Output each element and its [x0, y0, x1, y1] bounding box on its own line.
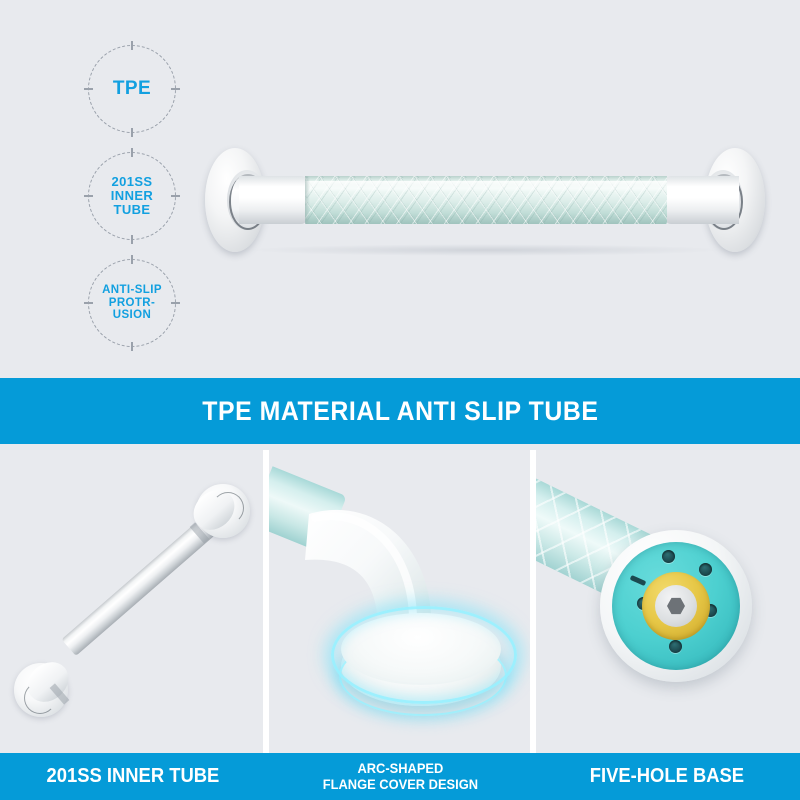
caption-line-1: ARC-SHAPED [357, 760, 443, 776]
caption-base: FIVE-HOLE BASE [533, 753, 800, 800]
tick-west-icon [84, 302, 93, 303]
callout-anti-slip-label: ANTI-SLIP PROTR- USION [102, 284, 162, 321]
callout-tpe: TPE [88, 45, 176, 133]
caption-bar: 201SS INNER TUBE ARC-SHAPED FLANGE COVER… [0, 753, 800, 800]
inner-tube-arc-top [212, 492, 244, 524]
tick-south-icon [131, 128, 132, 137]
callout-line-3: USION [113, 309, 151, 321]
caption-inner-tube-text: 201SS INNER TUBE [47, 766, 220, 788]
callout-anti-slip: ANTI-SLIP PROTR- USION [88, 259, 176, 347]
tube-seam-left [305, 176, 310, 224]
tick-east-icon [171, 195, 180, 196]
caption-base-text: FIVE-HOLE BASE [589, 766, 743, 788]
tick-west-icon [84, 88, 93, 89]
stainless-inner-tube-photo [0, 450, 263, 753]
flange-glow-ring-upper [331, 606, 517, 704]
arc-elbow-flange-cover-photo [269, 450, 530, 753]
panel-inner-tube [0, 450, 263, 753]
main-banner: TPE MATERIAL ANTI SLIP TUBE [0, 378, 800, 444]
callout-line-3: TUBE [113, 202, 150, 217]
five-hole-base-photo [536, 450, 800, 753]
callout-inner-tube: 201SS INNER TUBE [88, 152, 176, 240]
grab-bar-product-image [205, 148, 765, 252]
caption-flange-text: ARC-SHAPED FLANGE COVER DESIGN [322, 761, 477, 791]
banner-title: TPE MATERIAL ANTI SLIP TUBE [202, 396, 598, 427]
tick-east-icon [171, 88, 180, 89]
callout-line-1: ANTI-SLIP [102, 284, 162, 296]
callout-line-1: 201SS [111, 174, 152, 189]
tick-north-icon [131, 41, 132, 50]
panel-flange-cover [269, 450, 530, 753]
caption-line-2: FLANGE COVER DESIGN [322, 776, 477, 792]
white-stub-right [665, 176, 739, 224]
tick-east-icon [171, 302, 180, 303]
tpe-textured-tube [305, 176, 667, 224]
tick-south-icon [131, 342, 132, 351]
screw-hole-2 [699, 563, 712, 576]
tick-north-icon [131, 148, 132, 157]
caption-inner-tube: 201SS INNER TUBE [0, 753, 267, 800]
product-infographic: TPE 201SS INNER TUBE ANTI-SLIP PROTR- US… [0, 0, 800, 800]
callout-inner-tube-label: 201SS INNER TUBE [111, 175, 153, 217]
callout-tpe-label: TPE [113, 79, 151, 100]
panel-five-hole-base [536, 450, 800, 753]
tick-west-icon [84, 195, 93, 196]
caption-flange: ARC-SHAPED FLANGE COVER DESIGN [267, 753, 534, 800]
hero-section: TPE 201SS INNER TUBE ANTI-SLIP PROTR- US… [0, 0, 800, 378]
feature-panels [0, 450, 800, 753]
callout-line-2: PROTR- [109, 297, 155, 309]
tick-north-icon [131, 255, 132, 264]
inner-tube-shaft [61, 518, 215, 656]
tick-south-icon [131, 235, 132, 244]
screw-hole-4 [669, 640, 682, 653]
screw-hole-1 [662, 550, 675, 563]
white-stub-left [239, 176, 307, 224]
callout-line-2: INNER [111, 188, 153, 203]
product-shadow [245, 244, 725, 256]
